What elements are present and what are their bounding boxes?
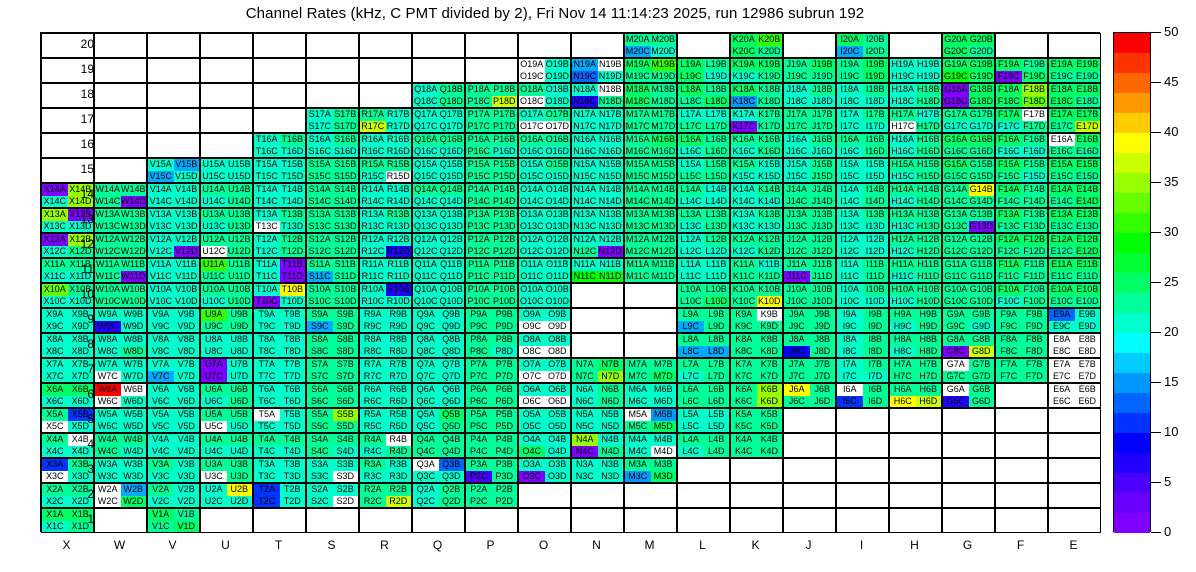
pmt-channel[interactable]: J14D [810,196,836,208]
grid-cell[interactable]: N4AN4BN4CN4D [571,433,624,458]
grid-cell[interactable]: R3AR3BR3CR3D [359,458,412,483]
pmt-channel[interactable]: F8B [1022,334,1048,346]
pmt-channel[interactable]: V4B [174,434,200,446]
pmt-channel[interactable]: R6A [360,384,386,396]
pmt-channel[interactable]: Q12C [413,246,439,258]
pmt-channel[interactable]: K11A [731,259,757,271]
grid-cell[interactable] [200,108,253,133]
pmt-channel[interactable]: N4B [598,434,624,446]
pmt-channel[interactable]: X5A [42,409,68,421]
pmt-channel[interactable]: I6D [863,396,889,408]
pmt-channel[interactable]: S10D [333,296,359,308]
pmt-channel[interactable]: X4C [42,446,68,458]
pmt-channel[interactable]: X14C [42,196,68,208]
pmt-channel[interactable]: G8D [969,346,995,358]
pmt-channel[interactable]: N14C [572,196,598,208]
pmt-channel[interactable]: K14A [731,184,757,196]
grid-cell[interactable] [465,58,518,83]
grid-cell[interactable] [571,483,624,508]
pmt-channel[interactable]: R11D [386,271,412,283]
pmt-channel[interactable]: W13C [95,221,121,233]
pmt-channel[interactable]: V15A [148,159,174,171]
grid-cell[interactable]: R14AR14BR14CR14D [359,183,412,208]
grid-cell[interactable]: O14AO14BO14CO14D [518,183,571,208]
pmt-channel[interactable]: U2B [227,484,253,496]
pmt-channel[interactable]: V5B [174,409,200,421]
pmt-channel[interactable]: M17D [651,121,677,133]
pmt-channel[interactable]: S12A [307,234,333,246]
pmt-channel[interactable]: O9A [519,309,545,321]
pmt-channel[interactable]: I20A [837,34,863,46]
pmt-channel[interactable]: Q12A [413,234,439,246]
pmt-channel[interactable]: U3C [201,471,227,483]
pmt-channel[interactable]: Q2D [439,496,465,508]
grid-cell[interactable]: L8AL8BL8CL8D [677,333,730,358]
grid-cell[interactable]: L10AL10BL10CL10D [677,283,730,308]
pmt-channel[interactable]: P6A [466,384,492,396]
pmt-channel[interactable]: I20D [863,46,889,58]
pmt-channel[interactable]: K17D [757,121,783,133]
pmt-channel[interactable]: W7D [121,371,147,383]
pmt-channel[interactable]: G10B [969,284,995,296]
pmt-channel[interactable]: N19D [598,71,624,83]
pmt-channel[interactable]: K10A [731,284,757,296]
pmt-channel[interactable]: T8C [254,346,280,358]
pmt-channel[interactable]: S17A [307,109,333,121]
grid-cell[interactable]: S17AS17BS17CS17D [306,108,359,133]
grid-cell[interactable]: Q16AQ16BQ16CQ16D [412,133,465,158]
pmt-channel[interactable]: T12D [280,246,306,258]
grid-cell[interactable] [889,33,942,58]
pmt-channel[interactable]: K7A [731,359,757,371]
pmt-channel[interactable]: L15C [678,171,704,183]
pmt-channel[interactable]: V13C [148,221,174,233]
pmt-channel[interactable]: X12A [42,234,68,246]
pmt-channel[interactable]: H7C [890,371,916,383]
grid-cell[interactable]: T6AT6BT6CT6D [253,383,306,408]
grid-cell[interactable]: J7AJ7BJ7CJ7D [783,358,836,383]
pmt-channel[interactable]: M5D [651,421,677,433]
pmt-channel[interactable]: S2A [307,484,333,496]
pmt-channel[interactable]: P2D [492,496,518,508]
pmt-channel[interactable]: E9B [1075,309,1101,321]
grid-cell[interactable]: S15AS15BS15CS15D [306,158,359,183]
pmt-channel[interactable]: O12A [519,234,545,246]
pmt-channel[interactable]: E13B [1075,209,1101,221]
pmt-channel[interactable]: R16A [360,134,386,146]
pmt-channel[interactable]: R12A [360,234,386,246]
pmt-channel[interactable]: U15A [201,159,227,171]
pmt-channel[interactable]: G13B [969,209,995,221]
pmt-channel[interactable]: O18D [545,96,571,108]
pmt-channel[interactable]: P15A [466,159,492,171]
pmt-channel[interactable]: Q14D [439,196,465,208]
grid-cell[interactable]: W11AW11BW11CW11D [94,258,147,283]
grid-cell[interactable]: G8AG8BG8CG8D [942,333,995,358]
pmt-channel[interactable]: Q5C [413,421,439,433]
pmt-channel[interactable]: Q13A [413,209,439,221]
pmt-channel[interactable]: H7B [916,359,942,371]
pmt-channel[interactable]: M5B [651,409,677,421]
pmt-channel[interactable]: Q16A [413,134,439,146]
pmt-channel[interactable]: F14B [1022,184,1048,196]
grid-cell[interactable]: E9AE9BE9CE9D [1048,308,1101,333]
pmt-channel[interactable]: Q5B [439,409,465,421]
pmt-channel[interactable]: G8C [943,346,969,358]
grid-cell[interactable]: O9AO9BO9CO9D [518,308,571,333]
grid-cell[interactable]: M15AM15BM15CM15D [624,158,677,183]
pmt-channel[interactable]: K8C [731,346,757,358]
pmt-channel[interactable]: E10C [1049,296,1075,308]
detector-channel-grid[interactable]: M20AM20BM20CM20DK20AK20BK20CK20DI20AI20B… [40,32,1100,532]
pmt-channel[interactable]: P2A [466,484,492,496]
pmt-channel[interactable]: H15A [890,159,916,171]
pmt-channel[interactable]: R10C [360,296,386,308]
pmt-channel[interactable]: H17D [916,121,942,133]
pmt-channel[interactable]: F12C [996,246,1022,258]
grid-cell[interactable]: R13AR13BR13CR13D [359,208,412,233]
grid-cell[interactable] [677,458,730,483]
pmt-channel[interactable]: S4D [333,446,359,458]
pmt-channel[interactable]: N19A [572,59,598,71]
grid-cell[interactable]: N16AN16BN16CN16D [571,133,624,158]
grid-cell[interactable]: U10AU10BU10CU10D [200,283,253,308]
pmt-channel[interactable]: W10D [121,296,147,308]
grid-cell[interactable]: E11AE11BE11CE11D [1048,258,1101,283]
pmt-channel[interactable]: P5A [466,409,492,421]
pmt-channel[interactable]: R3D [386,471,412,483]
grid-cell[interactable]: V5AV5BV5CV5D [147,408,200,433]
pmt-channel[interactable]: M12B [651,234,677,246]
pmt-channel[interactable]: U13A [201,209,227,221]
pmt-channel[interactable]: P13B [492,209,518,221]
grid-cell[interactable]: F10AF10BF10CF10D [995,283,1048,308]
pmt-channel[interactable]: T8D [280,346,306,358]
pmt-channel[interactable]: N13A [572,209,598,221]
pmt-channel[interactable]: F7D [1022,371,1048,383]
pmt-channel[interactable]: H13D [916,221,942,233]
grid-cell[interactable]: H7AH7BH7CH7D [889,358,942,383]
grid-cell[interactable]: U15AU15BU15CU15D [200,158,253,183]
pmt-channel[interactable]: V7C [148,371,174,383]
grid-cell[interactable]: M14AM14BM14CM14D [624,183,677,208]
grid-cell[interactable] [942,483,995,508]
pmt-channel[interactable]: J14A [784,184,810,196]
pmt-channel[interactable]: K20D [757,46,783,58]
pmt-channel[interactable]: T3C [254,471,280,483]
grid-cell[interactable]: R11AR11BR11CR11D [359,258,412,283]
pmt-channel[interactable]: N18C [572,96,598,108]
pmt-channel[interactable]: L14A [678,184,704,196]
pmt-channel[interactable]: R15B [386,159,412,171]
pmt-channel[interactable]: L14B [704,184,730,196]
pmt-channel[interactable]: F11B [1022,259,1048,271]
pmt-channel[interactable]: E11D [1075,271,1101,283]
pmt-channel[interactable]: U7D [227,371,253,383]
pmt-channel[interactable]: S4B [333,434,359,446]
pmt-channel[interactable]: E9C [1049,321,1075,333]
pmt-channel[interactable]: S3C [307,471,333,483]
pmt-channel[interactable]: O18C [519,96,545,108]
pmt-channel[interactable]: M7A [625,359,651,371]
pmt-channel[interactable]: H18A [890,84,916,96]
pmt-channel[interactable]: N11D [598,271,624,283]
grid-cell[interactable] [253,83,306,108]
grid-cell[interactable]: Q4AQ4BQ4CQ4D [412,433,465,458]
grid-cell[interactable]: U14AU14BU14CU14D [200,183,253,208]
pmt-channel[interactable]: P9A [466,309,492,321]
pmt-channel[interactable]: M19A [625,59,651,71]
pmt-channel[interactable]: K15C [731,171,757,183]
grid-cell[interactable]: M11AM11BM11CM11D [624,258,677,283]
pmt-channel[interactable]: E15D [1075,171,1101,183]
pmt-channel[interactable]: V5C [148,421,174,433]
pmt-channel[interactable]: L19C [678,71,704,83]
grid-cell[interactable]: G14AG14BG14CG14D [942,183,995,208]
grid-cell[interactable]: M6AM6BM6CM6D [624,383,677,408]
pmt-channel[interactable]: L17A [678,109,704,121]
pmt-channel[interactable]: O8B [545,334,571,346]
pmt-channel[interactable]: E13C [1049,221,1075,233]
pmt-channel[interactable]: W3D [121,471,147,483]
pmt-channel[interactable]: M3C [625,471,651,483]
pmt-channel[interactable]: V1D [174,521,200,533]
grid-cell[interactable]: P5AP5BP5CP5D [465,408,518,433]
pmt-channel[interactable]: E15A [1049,159,1075,171]
grid-cell[interactable]: K4AK4BK4CK4D [730,433,783,458]
pmt-channel[interactable]: O8C [519,346,545,358]
pmt-channel[interactable]: T3A [254,459,280,471]
grid-cell[interactable]: S16AS16BS16CS16D [306,133,359,158]
pmt-channel[interactable]: P12A [466,234,492,246]
grid-cell[interactable]: U7AU7BU7CU7D [200,358,253,383]
pmt-channel[interactable]: W14D [121,196,147,208]
grid-cell[interactable]: U4AU4BU4CU4D [200,433,253,458]
grid-cell[interactable] [783,33,836,58]
pmt-channel[interactable]: S16C [307,146,333,158]
pmt-channel[interactable]: O19B [545,59,571,71]
pmt-channel[interactable]: T8B [280,334,306,346]
pmt-channel[interactable]: P18D [492,96,518,108]
pmt-channel[interactable]: O11B [545,259,571,271]
pmt-channel[interactable]: K16A [731,134,757,146]
pmt-channel[interactable]: X6C [42,396,68,408]
pmt-channel[interactable]: J18B [810,84,836,96]
pmt-channel[interactable]: F7B [1022,359,1048,371]
pmt-channel[interactable]: R6B [386,384,412,396]
pmt-channel[interactable]: K6A [731,384,757,396]
pmt-channel[interactable]: O6C [519,396,545,408]
pmt-channel[interactable]: T9D [280,321,306,333]
grid-cell[interactable]: L15AL15BL15CL15D [677,158,730,183]
grid-cell[interactable]: O3AO3BO3CO3D [518,458,571,483]
pmt-channel[interactable]: T15A [254,159,280,171]
pmt-channel[interactable]: U5A [201,409,227,421]
pmt-channel[interactable]: S5A [307,409,333,421]
grid-cell[interactable] [783,458,836,483]
pmt-channel[interactable]: F13A [996,209,1022,221]
pmt-channel[interactable]: F15B [1022,159,1048,171]
pmt-channel[interactable]: N17A [572,109,598,121]
grid-cell[interactable] [518,483,571,508]
pmt-channel[interactable]: H10D [916,296,942,308]
grid-cell[interactable]: K15AK15BK15CK15D [730,158,783,183]
pmt-channel[interactable]: I19A [837,59,863,71]
pmt-channel[interactable]: T2C [254,496,280,508]
pmt-channel[interactable]: N12A [572,234,598,246]
pmt-channel[interactable]: R8B [386,334,412,346]
pmt-channel[interactable]: W3A [95,459,121,471]
grid-cell[interactable] [465,33,518,58]
grid-cell[interactable]: L13AL13BL13CL13D [677,208,730,233]
pmt-channel[interactable]: V1A [148,509,174,521]
pmt-channel[interactable]: F17C [996,121,1022,133]
pmt-channel[interactable]: T14A [254,184,280,196]
pmt-channel[interactable]: J19C [784,71,810,83]
pmt-channel[interactable]: S8C [307,346,333,358]
pmt-channel[interactable]: O12B [545,234,571,246]
pmt-channel[interactable]: P13D [492,221,518,233]
pmt-channel[interactable]: O5C [519,421,545,433]
pmt-channel[interactable]: U12C [201,246,227,258]
pmt-channel[interactable]: P17D [492,121,518,133]
pmt-channel[interactable]: H15C [890,171,916,183]
grid-cell[interactable]: L7AL7BL7CL7D [677,358,730,383]
pmt-channel[interactable]: L8C [678,346,704,358]
pmt-channel[interactable]: G11D [969,271,995,283]
pmt-channel[interactable]: R13D [386,221,412,233]
grid-cell[interactable]: L17AL17BL17CL17D [677,108,730,133]
pmt-channel[interactable]: N3D [598,471,624,483]
pmt-channel[interactable]: U11B [227,259,253,271]
grid-cell[interactable]: I16AI16BI16CI16D [836,133,889,158]
grid-cell[interactable]: N17AN17BN17CN17D [571,108,624,133]
pmt-channel[interactable]: P7D [492,371,518,383]
pmt-channel[interactable]: V5D [174,421,200,433]
pmt-channel[interactable]: N5C [572,421,598,433]
pmt-channel[interactable]: P13C [466,221,492,233]
pmt-channel[interactable]: O3C [519,471,545,483]
grid-cell[interactable]: V3AV3BV3CV3D [147,458,200,483]
pmt-channel[interactable]: O13C [519,221,545,233]
grid-cell[interactable]: W4AW4BW4CW4D [94,433,147,458]
pmt-channel[interactable]: T4D [280,446,306,458]
pmt-channel[interactable]: K9A [731,309,757,321]
pmt-channel[interactable]: K12A [731,234,757,246]
pmt-channel[interactable]: W11B [121,259,147,271]
pmt-channel[interactable]: H19B [916,59,942,71]
grid-cell[interactable]: U6AU6BU6CU6D [200,383,253,408]
pmt-channel[interactable]: U8C [201,346,227,358]
grid-cell[interactable]: G7AG7BG7CG7D [942,358,995,383]
pmt-channel[interactable]: G10D [969,296,995,308]
pmt-channel[interactable]: T8A [254,334,280,346]
pmt-channel[interactable]: P11D [492,271,518,283]
pmt-channel[interactable]: J16D [810,146,836,158]
pmt-channel[interactable]: J10B [810,284,836,296]
pmt-channel[interactable]: Q11D [439,271,465,283]
pmt-channel[interactable]: R11A [360,259,386,271]
pmt-channel[interactable]: T11C [254,271,280,283]
grid-cell[interactable]: R9AR9BR9CR9D [359,308,412,333]
pmt-channel[interactable]: Q8B [439,334,465,346]
grid-cell[interactable] [889,483,942,508]
grid-cell[interactable]: Q3AQ3BQ3CQ3D [412,458,465,483]
grid-cell[interactable] [147,108,200,133]
pmt-channel[interactable]: E18C [1049,96,1075,108]
pmt-channel[interactable]: M15D [651,171,677,183]
pmt-channel[interactable]: M19D [651,71,677,83]
pmt-channel[interactable]: I12A [837,234,863,246]
grid-cell[interactable]: G13AG13BG13CG13D [942,208,995,233]
pmt-channel[interactable]: K14C [731,196,757,208]
pmt-channel[interactable]: L18C [678,96,704,108]
pmt-channel[interactable]: W6C [95,396,121,408]
pmt-channel[interactable]: L11B [704,259,730,271]
grid-cell[interactable] [624,283,677,308]
pmt-channel[interactable]: Q10B [439,284,465,296]
grid-cell[interactable] [942,408,995,433]
pmt-channel[interactable]: M16B [651,134,677,146]
pmt-channel[interactable]: K9B [757,309,783,321]
pmt-channel[interactable]: I18B [863,84,889,96]
pmt-channel[interactable]: P5D [492,421,518,433]
pmt-channel[interactable]: F9D [1022,321,1048,333]
pmt-channel[interactable]: U14D [227,196,253,208]
pmt-channel[interactable]: N7D [598,371,624,383]
grid-cell[interactable]: N6AN6BN6CN6D [571,383,624,408]
pmt-channel[interactable]: S14D [333,196,359,208]
pmt-channel[interactable]: W12D [121,246,147,258]
pmt-channel[interactable]: R2D [386,496,412,508]
pmt-channel[interactable]: M14B [651,184,677,196]
grid-cell[interactable] [995,33,1048,58]
grid-cell[interactable]: J15AJ15BJ15CJ15D [783,158,836,183]
pmt-channel[interactable]: I9C [837,321,863,333]
grid-cell[interactable] [995,508,1048,533]
pmt-channel[interactable]: R3C [360,471,386,483]
pmt-channel[interactable]: I8C [837,346,863,358]
grid-cell[interactable]: U5AU5BU5CU5D [200,408,253,433]
pmt-channel[interactable]: J14B [810,184,836,196]
pmt-channel[interactable]: G13C [943,221,969,233]
pmt-channel[interactable]: H19A [890,59,916,71]
pmt-channel[interactable]: U14A [201,184,227,196]
grid-cell[interactable]: E13AE13BE13CE13D [1048,208,1101,233]
pmt-channel[interactable]: G10A [943,284,969,296]
pmt-channel[interactable]: E14D [1075,196,1101,208]
grid-cell[interactable]: K5AK5BK5CK5D [730,408,783,433]
pmt-channel[interactable]: U12D [227,246,253,258]
grid-cell[interactable]: Q13AQ13BQ13CQ13D [412,208,465,233]
grid-cell[interactable] [677,33,730,58]
pmt-channel[interactable]: W5A [95,409,121,421]
pmt-channel[interactable]: E16A [1049,134,1075,146]
pmt-channel[interactable]: O14D [545,196,571,208]
pmt-channel[interactable]: R15D [386,171,412,183]
pmt-channel[interactable]: X10C [42,296,68,308]
pmt-channel[interactable]: M13B [651,209,677,221]
grid-cell[interactable] [995,408,1048,433]
pmt-channel[interactable]: J12D [810,246,836,258]
grid-cell[interactable]: J9AJ9BJ9CJ9D [783,308,836,333]
pmt-channel[interactable]: L5C [678,421,704,433]
pmt-channel[interactable]: I7A [837,359,863,371]
pmt-channel[interactable]: M13A [625,209,651,221]
grid-cell[interactable] [147,58,200,83]
pmt-channel[interactable]: H12C [890,246,916,258]
pmt-channel[interactable]: I6C [837,396,863,408]
